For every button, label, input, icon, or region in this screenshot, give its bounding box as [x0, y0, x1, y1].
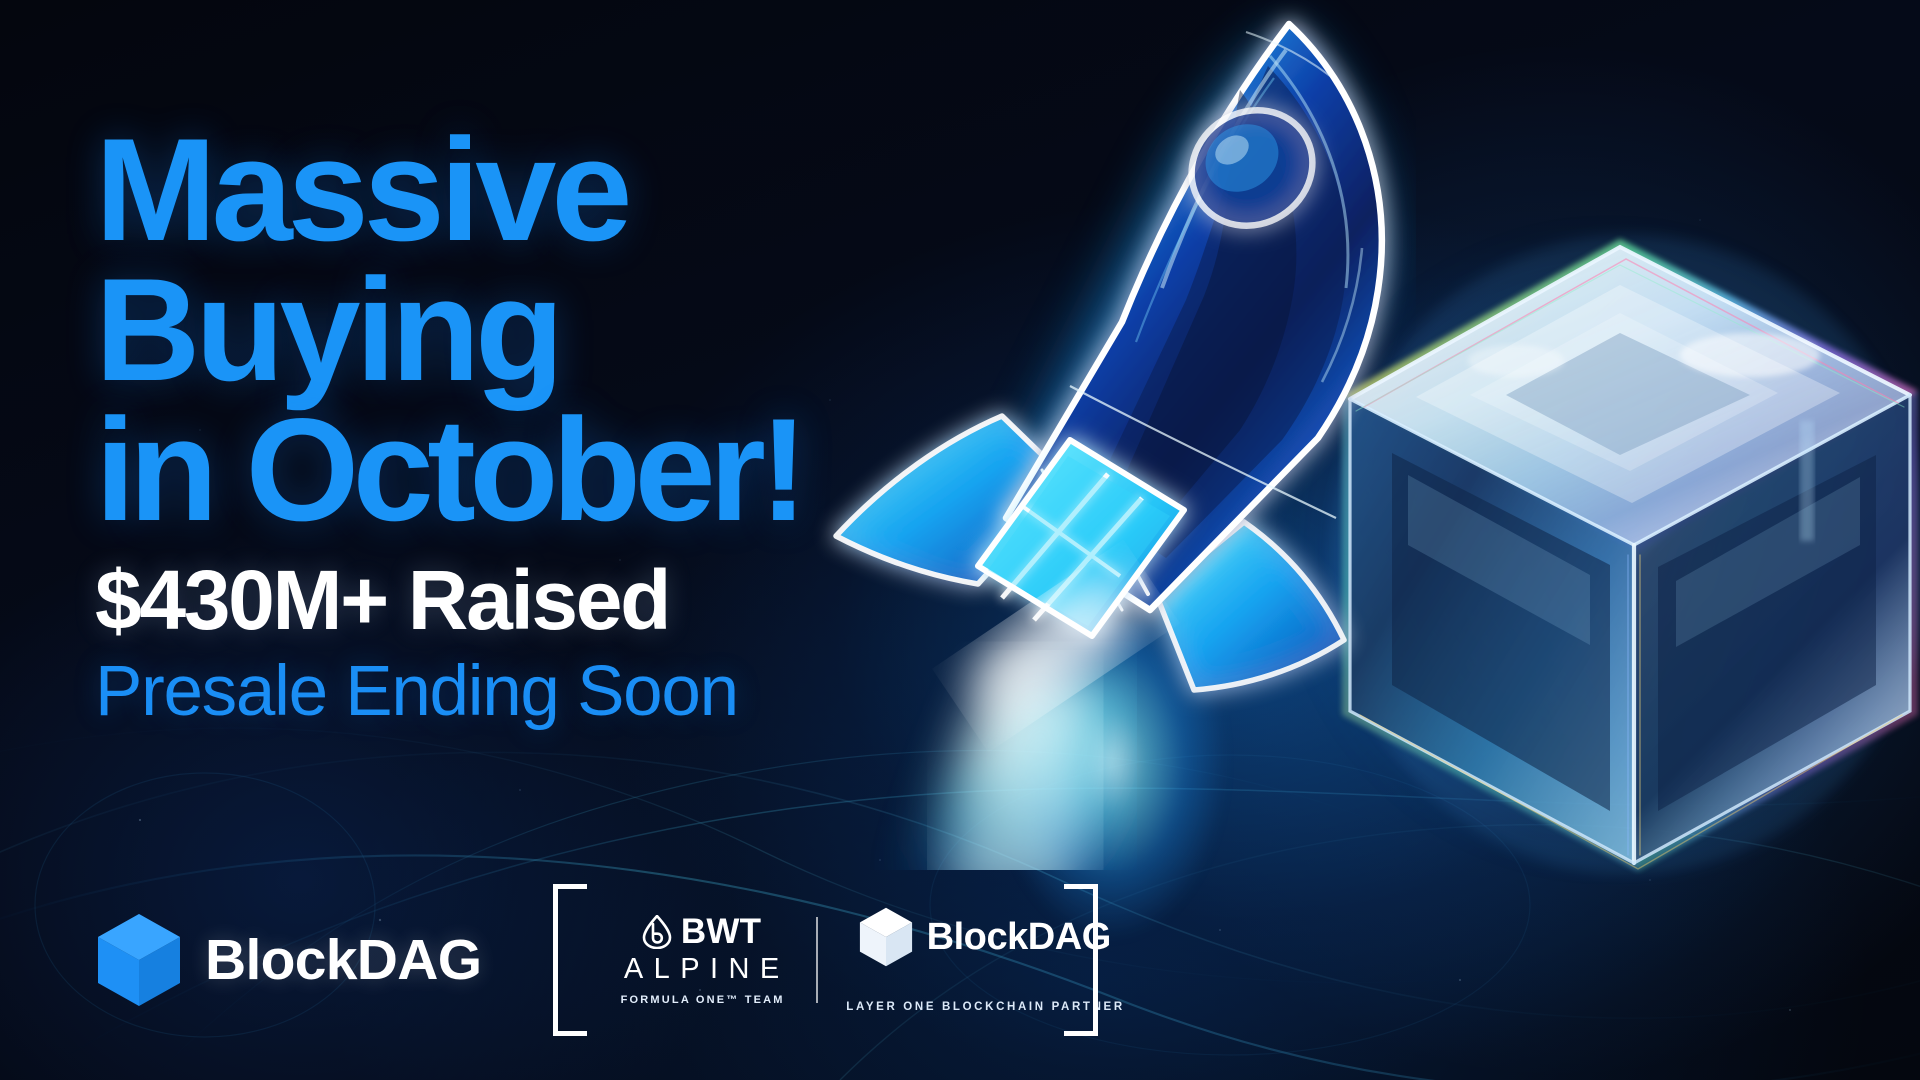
banner-stage: Massive Buying in October! $430M+ Raised… [0, 0, 1920, 1080]
blockdag-wordmark: BlockDAG [205, 932, 481, 989]
bwt-droplet-icon [642, 915, 672, 949]
bracket-left-icon [553, 884, 587, 1036]
bracket-right-icon [1064, 884, 1098, 1036]
partnership-lockup: BWT ALPINE FORMULA ONE™ TEAM BlockDAG [553, 884, 1098, 1036]
alpine-wordmark: ALPINE [613, 955, 789, 984]
bwt-alpine-logo[interactable]: BWT ALPINE FORMULA ONE™ TEAM [613, 914, 789, 1006]
blockdag-cube-icon [858, 906, 914, 968]
lockup-divider [816, 917, 818, 1003]
headline-line-3: in October! [95, 400, 915, 540]
amount-raised-text: $430M+ Raised [95, 558, 915, 642]
bwt-wordmark: BWT [681, 914, 761, 949]
logo-row: BlockDAG BWT ALPINE FORMULA ONE™ TEAM [95, 884, 1098, 1036]
headline-block: Massive Buying in October! $430M+ Raised… [95, 120, 915, 727]
presale-status-text: Presale Ending Soon [95, 656, 915, 727]
headline-line-1: Massive [95, 120, 915, 260]
headline-line-2: Buying [95, 260, 915, 400]
blockdag-cube-icon [95, 912, 183, 1008]
formula-one-team-label: FORMULA ONE™ TEAM [618, 995, 784, 1006]
blockdag-brand-logo[interactable]: BlockDAG [95, 912, 481, 1008]
